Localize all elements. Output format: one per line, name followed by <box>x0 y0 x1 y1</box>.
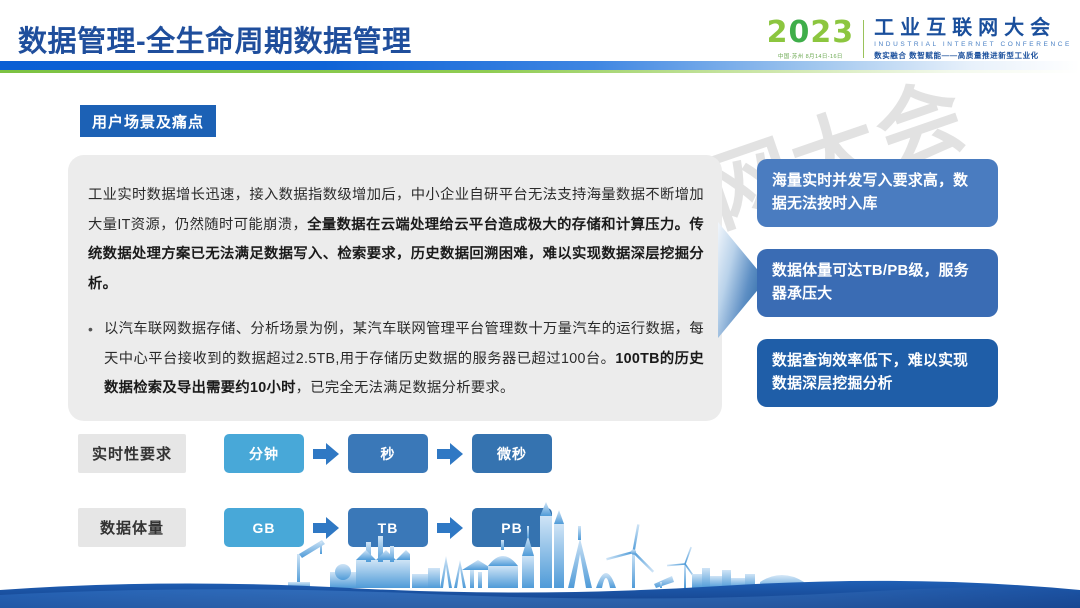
flow-arrow-icon-4 <box>428 517 472 539</box>
callout-box-3: 数据查询效率低下，难以实现数据深层挖掘分析 <box>757 339 998 407</box>
panel-bullet-text: 以汽车联网数据存储、分析场景为例，某汽车联网管理平台管理数十万量汽车的运行数据，… <box>104 315 704 404</box>
logo-year-digit-2: 23 <box>810 15 854 50</box>
page-title: 数据管理-全生命周期数据管理 <box>18 18 412 60</box>
section-tag-user-scenario: 用户场景及痛点 <box>80 105 216 137</box>
flow-chip-volume-2: TB <box>348 508 428 547</box>
flow-chip-realtime-3: 微秒 <box>472 434 552 473</box>
flow-chip-volume-3: PB <box>472 508 552 547</box>
bullet-dot-icon: • <box>88 315 104 404</box>
flow-arrow-icon-2 <box>428 443 472 465</box>
bullet-text-part-1: 以汽车联网数据存储、分析场景为例，某汽车联网管理平台管理数十万量汽车的运行数据，… <box>104 321 704 367</box>
flow-row-realtime: 实时性要求 分钟 秒 微秒 <box>78 434 552 473</box>
logo-slogan: 数实融合 数智赋能——高质量推进新型工业化 <box>874 50 1072 61</box>
logo-text-block: 工业互联网大会 INDUSTRIAL INTERNET CONFERENCE 数… <box>864 18 1072 61</box>
flow-label-realtime: 实时性要求 <box>78 434 186 473</box>
logo-year-ring: 0 <box>788 15 810 50</box>
logo-year-block: 2023 中国·苏州 8月14日-16日 <box>767 18 864 60</box>
flow-row-volume: 数据体量 GB TB PB <box>78 508 552 547</box>
flow-arrow-icon-1 <box>304 443 348 465</box>
header-divider-green <box>0 70 1080 73</box>
flow-arrow-icon-3 <box>304 517 348 539</box>
slide-root: 数据管理-全生命周期数据管理 2023 中国·苏州 8月14日-16日 工业互联… <box>0 0 1080 608</box>
logo-year: 2023 <box>767 18 855 48</box>
callout-box-2: 数据体量可达TB/PB级，服务器承压大 <box>757 249 998 317</box>
scenario-panel: 工业实时数据增长迅速，接入数据指数级增加后，中小企业自研平台无法支持海量数据不断… <box>68 155 722 421</box>
callout-box-1: 海量实时并发写入要求高，数据无法按时入库 <box>757 159 998 227</box>
slide-header: 数据管理-全生命周期数据管理 2023 中国·苏州 8月14日-16日 工业互联… <box>0 0 1080 78</box>
panel-bullet-item: • 以汽车联网数据存储、分析场景为例，某汽车联网管理平台管理数十万量汽车的运行数… <box>88 315 704 404</box>
flow-chip-volume-1: GB <box>224 508 304 547</box>
flow-chip-realtime-2: 秒 <box>348 434 428 473</box>
logo-conference-name-en: INDUSTRIAL INTERNET CONFERENCE <box>874 41 1072 48</box>
logo-conference-name-cn: 工业互联网大会 <box>874 18 1072 39</box>
panel-paragraph: 工业实时数据增长迅速，接入数据指数级增加后，中小企业自研平台无法支持海量数据不断… <box>88 181 704 299</box>
conference-logo: 2023 中国·苏州 8月14日-16日 工业互联网大会 INDUSTRIAL … <box>767 14 1072 64</box>
bullet-text-part-2: ，已完全无法满足数据分析要求。 <box>296 380 515 396</box>
logo-year-digit-1: 2 <box>767 15 789 50</box>
flow-chip-realtime-1: 分钟 <box>224 434 304 473</box>
logo-date-line: 中国·苏州 8月14日-16日 <box>778 52 843 60</box>
flow-label-volume: 数据体量 <box>78 508 186 547</box>
